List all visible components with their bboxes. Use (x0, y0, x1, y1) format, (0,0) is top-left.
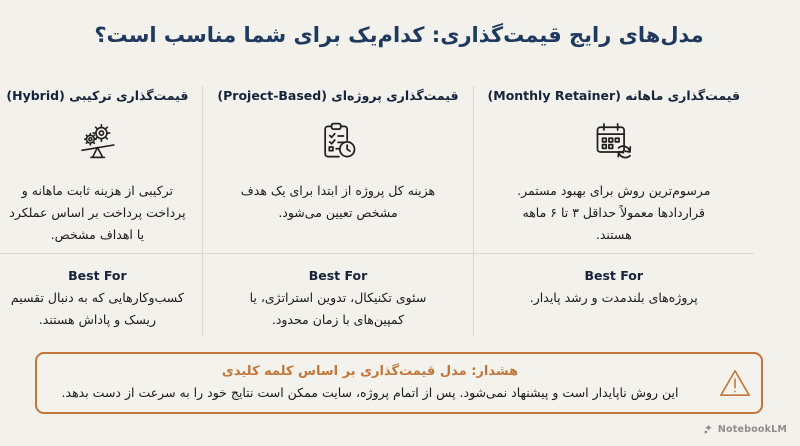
column-heading-hybrid: قیمت‌گذاری ترکیبی (Hybrid) (7, 88, 189, 104)
warning-heading: هشدار: مدل قیمت‌گذاری بر اساس کلمه کلیدی (223, 363, 519, 381)
column-hybrid: قیمت‌گذاری ترکیبی (Hybrid) (0, 86, 203, 253)
bestfor-text-project-based: سئوی تکنیکال، تدوین استراتژی، یا کمپین‌ه… (234, 287, 444, 331)
calendar-refresh-icon (593, 118, 637, 164)
column-description-hybrid: ترکیبی از هزینه ثابت ماهانه و پرداخت پرد… (7, 180, 189, 246)
bestfor-label-project-based: Best For (310, 268, 369, 283)
page-title: مدل‌های رایج قیمت‌گذاری: کدام‌یک برای شم… (0, 22, 800, 48)
warning-text: این روش ناپایدار است و پیشنهاد نمی‌شود. … (63, 384, 680, 403)
pricing-models-table: قیمت‌گذاری ماهانه (Monthly Retainer) (45, 86, 755, 336)
bestfor-label-monthly-retainer: Best For (585, 268, 644, 283)
column-description-project-based: هزینه کل پروژه از ابتدا برای یک هدف مشخص… (236, 180, 441, 224)
bestfor-text-hybrid: کسب‌وکارهایی که به دنبال تقسیم ریسک و پا… (7, 287, 189, 331)
clipboard-clock-icon (317, 118, 361, 164)
column-project-based: قیمت‌گذاری پروژه‌ای (Project-Based) هزین… (203, 86, 474, 253)
warning-body: هشدار: مدل قیمت‌گذاری بر اساس کلمه کلیدی… (38, 363, 710, 403)
bestfor-hybrid: Best For کسب‌وکارهایی که به دنبال تقسیم … (0, 253, 203, 336)
bestfor-project-based: Best For سئوی تکنیکال، تدوین استراتژی، ی… (203, 253, 474, 336)
bestfor-monthly-retainer: Best For پروژه‌های بلندمدت و رشد پایدار. (475, 253, 755, 336)
notebooklm-watermark-label: NotebookLM (719, 424, 788, 435)
warning-callout: هشدار: مدل قیمت‌گذاری بر اساس کلمه کلیدی… (36, 352, 764, 414)
column-heading-project-based: قیمت‌گذاری پروژه‌ای (Project-Based) (218, 88, 459, 104)
column-heading-monthly-retainer: قیمت‌گذاری ماهانه (Monthly Retainer) (489, 88, 741, 104)
notebooklm-logo-icon (704, 420, 715, 439)
column-description-monthly-retainer: مرسوم‌ترین روش برای بهبود مستمر. قرارداد… (512, 180, 717, 246)
bestfor-label-hybrid: Best For (69, 268, 128, 283)
gears-balance-icon (75, 118, 121, 164)
infographic-page: مدل‌های رایج قیمت‌گذاری: کدام‌یک برای شم… (0, 0, 800, 446)
column-monthly-retainer: قیمت‌گذاری ماهانه (Monthly Retainer) (475, 86, 755, 253)
notebooklm-watermark: NotebookLM (704, 420, 788, 439)
warning-triangle-icon (710, 367, 762, 399)
bestfor-text-monthly-retainer: پروژه‌های بلندمدت و رشد پایدار. (531, 287, 699, 309)
